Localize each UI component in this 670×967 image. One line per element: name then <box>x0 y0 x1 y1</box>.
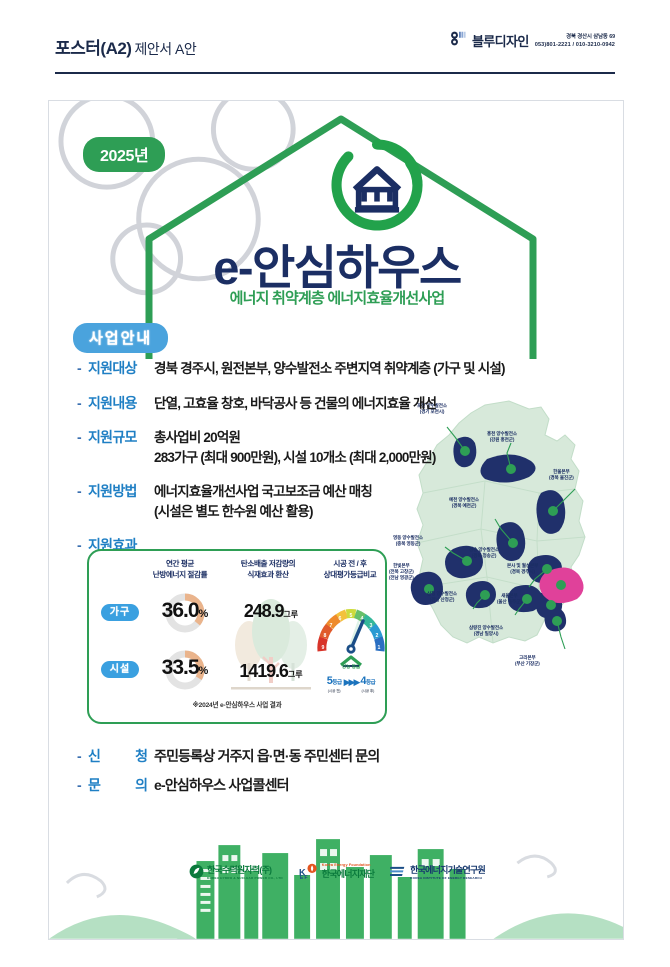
brand-contact: 경북 경산시 삼남동 69 053)801-2221 / 010-3210-09… <box>535 32 615 48</box>
stat-header-grade-compare: 시공 전 / 후 상대평가등급비교 <box>311 558 389 580</box>
brand-address: 경북 경산시 삼남동 69 <box>535 32 615 40</box>
stat-header-energy-saving: 연간 평균 난방에너지 절감률 <box>137 558 223 580</box>
stat-number: 36.0 <box>162 599 199 622</box>
blue-design-logo-icon <box>450 31 468 46</box>
logo-kef: K E F Korea Energy Foundation 한국에너지재단 <box>299 863 374 880</box>
map-label-region: (부산 기장군) <box>515 661 540 666</box>
map-label-name: 산청 양수발전소 <box>427 591 457 596</box>
brand-block: 블루디자인 경북 경산시 삼남동 69 053)801-2221 / 010-3… <box>450 30 615 50</box>
svg-text:7: 7 <box>330 623 333 629</box>
stat-unit: 그루 <box>288 670 303 679</box>
info-value: 단열, 고효율 창호, 바닥공사 등 건물의 에너지효율 개선 <box>154 394 436 414</box>
statistics-headers: 연간 평균 난방에너지 절감률 탄소배출 저감량의 식재효과 환산 시공 전 /… <box>89 558 385 588</box>
map-label-region: (경남 밀양시) <box>474 631 499 636</box>
stat-header-line1: 탄소배출 저감량의 <box>241 559 295 568</box>
map-label-name: 새울본부 <box>501 593 518 598</box>
footer-partner-logos: 한국수력원자력(주) KOREA HYDRO & NUCLEAR POWER C… <box>49 856 624 886</box>
brand-name: 블루디자인 <box>472 31 529 50</box>
info-dash-icon: - <box>77 359 88 378</box>
info-key: 지원방법 <box>88 482 154 501</box>
stat-unit: % <box>199 665 209 677</box>
stat-value-facility-trees: 1419.6그루 <box>225 661 317 682</box>
stat-number: 33.5 <box>162 656 199 679</box>
info-value-line2: (시설은 별도 한수원 예산 활용) <box>154 502 372 522</box>
grade-after-sub: (시공 후) <box>360 689 375 694</box>
info-row: - 지원방법 에너지효율개선사업 국고보조금 예산 매칭 (시설은 별도 한수원… <box>77 482 607 521</box>
map-label-region2: (전남 영광군) <box>389 575 414 580</box>
map-label-sancheong: 산청 양수발전소 (경남 산청군) <box>427 591 457 603</box>
info-value-line2: 283가구 (최대 900만원), 시설 10개소 (최대 2,000만원) <box>154 448 436 468</box>
contact-row-inquiry: - 문의 e-안심하우스 사업콜센터 <box>77 775 557 795</box>
info-dash-icon: - <box>77 536 88 555</box>
info-key: 지원내용 <box>88 394 154 413</box>
stat-number: 1419.6 <box>239 661 287 681</box>
kier-logo-icon <box>390 865 407 878</box>
page-title-main: 포스터(A2) <box>55 39 131 58</box>
map-label-region: (경남 산청군) <box>430 597 455 602</box>
info-value: 총사업비 20억원 283가구 (최대 900만원), 시설 10개소 (최대 … <box>154 428 436 467</box>
contact-key-inquiry: 문의 <box>88 775 154 795</box>
statistics-panel: 연간 평균 난방에너지 절감률 탄소배출 저감량의 식재효과 환산 시공 전 /… <box>87 549 387 724</box>
khnp-logo-icon <box>189 864 204 879</box>
map-label-region: (울산 울주군) <box>497 599 522 604</box>
contact-dash-icon: - <box>77 777 88 793</box>
info-key: 지원규모 <box>88 428 154 447</box>
contact-value-inquiry: e-안심하우스 사업콜센터 <box>154 775 289 795</box>
info-dash-icon: - <box>77 394 88 413</box>
info-dash-icon: - <box>77 428 88 447</box>
stat-number: 248.9 <box>244 601 284 621</box>
svg-text:6: 6 <box>339 616 342 622</box>
logo-kier: 한국에너지기술연구원 KOREA INSTITUTE OF ENERGY RES… <box>390 863 485 880</box>
info-value-line1: 에너지효율개선사업 국고보조금 예산 매칭 <box>154 484 372 499</box>
stat-unit: % <box>199 608 209 620</box>
svg-text:E: E <box>300 875 304 880</box>
page-title-sub: 제안서 A안 <box>134 41 196 57</box>
contact-row-application: - 신청 주민등록상 거주지 읍·면·동 주민센터 문의 <box>77 746 557 766</box>
brand-phone: 053)801-2221 / 010-3210-0942 <box>535 42 615 48</box>
contact-dash-icon: - <box>77 748 88 764</box>
map-label-gori: 고리본부 (부산 기장군) <box>515 655 540 667</box>
poster-canvas: 2025년 e-안심하우스 에너지 취약계층 에너지효율개선사업 사업안내 <box>48 100 624 940</box>
stat-header-line1: 시공 전 / 후 <box>333 559 366 568</box>
map-label-saeul: 새울본부 (울산 울주군) <box>497 593 522 605</box>
stat-value-facility-pct: 33.5% <box>143 656 227 680</box>
svg-text:8: 8 <box>324 633 327 639</box>
grade-after: 4등급 (시공 후) <box>360 671 375 694</box>
logo-kier-ko: 한국에너지기술연구원 <box>410 863 485 876</box>
logo-kef-ko: 한국에너지재단 <box>322 867 374 880</box>
stat-value-household-pct: 36.0% <box>143 599 227 623</box>
logo-khnp-en: KOREA HYDRO & NUCLEAR POWER CO., LTD <box>207 876 283 880</box>
grade-before-value: 5등급 <box>327 675 342 687</box>
poster-proposal-page: 포스터(A2)제안서 A안 블루디자인 경북 경산시 삼남동 69 053)80… <box>0 0 670 967</box>
statistics-footnote: ※2024년 e-안심하우스 사업 결과 <box>89 699 385 709</box>
info-row: - 지원규모 총사업비 20억원 283가구 (최대 900만원), 시설 10… <box>77 428 607 467</box>
svg-text:F: F <box>304 875 308 880</box>
info-row: - 지원내용 단열, 고효율 창호, 바닥공사 등 건물의 에너지효율 개선 <box>77 394 607 414</box>
stat-row-label-facility: 시설 <box>101 661 139 678</box>
page-title: 포스터(A2)제안서 A안 <box>55 34 196 59</box>
svg-text:2: 2 <box>376 633 379 639</box>
stat-row-label-household: 가구 <box>101 604 139 621</box>
section-badge-business-info: 사업안내 <box>73 323 168 353</box>
contact-key-application: 신청 <box>88 746 154 766</box>
stat-header-line1: 연간 평균 <box>166 559 194 568</box>
stat-header-carbon-trees: 탄소배출 저감량의 식재효과 환산 <box>225 558 311 580</box>
map-label-samrangjin: 삼랑진 양수발전소 (경남 밀양시) <box>469 625 503 637</box>
poster-subtitle: 에너지 취약계층 에너지효율개선사업 <box>49 287 624 308</box>
info-value-line1: 총사업비 20억원 <box>154 430 240 445</box>
stat-header-line2: 식재효과 환산 <box>247 570 288 579</box>
grade-before-sub: (시공 전) <box>327 689 342 694</box>
grade-comparison: 5등급 (시공 전) ▶▶▶ 4등급 (시공 후) <box>313 671 389 694</box>
grade-before: 5등급 (시공 전) <box>327 671 342 694</box>
document-header: 포스터(A2)제안서 A안 블루디자인 경북 경산시 삼남동 69 053)80… <box>55 30 615 72</box>
logo-khnp: 한국수력원자력(주) KOREA HYDRO & NUCLEAR POWER C… <box>189 863 283 880</box>
kef-logo-icon: K E F <box>299 863 319 880</box>
grade-after-value: 4등급 <box>360 675 375 687</box>
e-ansim-house-logo-icon <box>331 139 423 231</box>
info-value-line1: 단열, 고효율 창호, 바닥공사 등 건물의 에너지효율 개선 <box>154 396 436 411</box>
stat-header-line2: 상대평가등급비교 <box>324 570 377 579</box>
year-badge: 2025년 <box>83 137 165 172</box>
map-label-name: 고리본부 <box>519 655 536 660</box>
svg-text:9: 9 <box>322 645 325 651</box>
stat-value-household-trees: 248.9그루 <box>225 601 317 622</box>
logo-khnp-ko: 한국수력원자력(주) <box>207 863 283 876</box>
contact-section: - 신청 주민등록상 거주지 읍·면·동 주민센터 문의 - 문의 e-안심하우… <box>77 746 557 804</box>
performance-gauge-icon: 987 654 321 <box>313 587 389 667</box>
svg-text:3: 3 <box>370 623 373 629</box>
info-row: - 지원대상 경북 경주시, 원전본부, 양수발전소 주변지역 취약계층 (가구… <box>77 359 607 379</box>
gauge-caption: 성능 등급 <box>313 663 389 670</box>
stat-header-line2: 난방에너지 절감률 <box>153 570 207 579</box>
svg-text:5: 5 <box>350 613 353 619</box>
info-value: 경북 경주시, 원전본부, 양수발전소 주변지역 취약계층 (가구 및 시설) <box>154 359 505 379</box>
info-value: 에너지효율개선사업 국고보조금 예산 매칭 (시설은 별도 한수원 예산 활용) <box>154 482 372 521</box>
business-info-list: - 지원대상 경북 경주시, 원전본부, 양수발전소 주변지역 취약계층 (가구… <box>77 359 607 570</box>
info-dash-icon: - <box>77 482 88 501</box>
logo-kier-en: KOREA INSTITUTE OF ENERGY RESEARCH <box>410 876 485 880</box>
info-key: 지원대상 <box>88 359 154 378</box>
svg-text:1: 1 <box>378 645 381 651</box>
header-divider <box>55 72 615 74</box>
grade-arrow-icon: ▶▶▶ <box>344 677 359 688</box>
contact-value-application: 주민등록상 거주지 읍·면·동 주민센터 문의 <box>154 746 379 766</box>
map-label-name: 삼랑진 양수발전소 <box>469 625 503 630</box>
stat-unit: 그루 <box>283 610 298 619</box>
info-value-line1: 경북 경주시, 원전본부, 양수발전소 주변지역 취약계층 (가구 및 시설) <box>154 361 505 376</box>
